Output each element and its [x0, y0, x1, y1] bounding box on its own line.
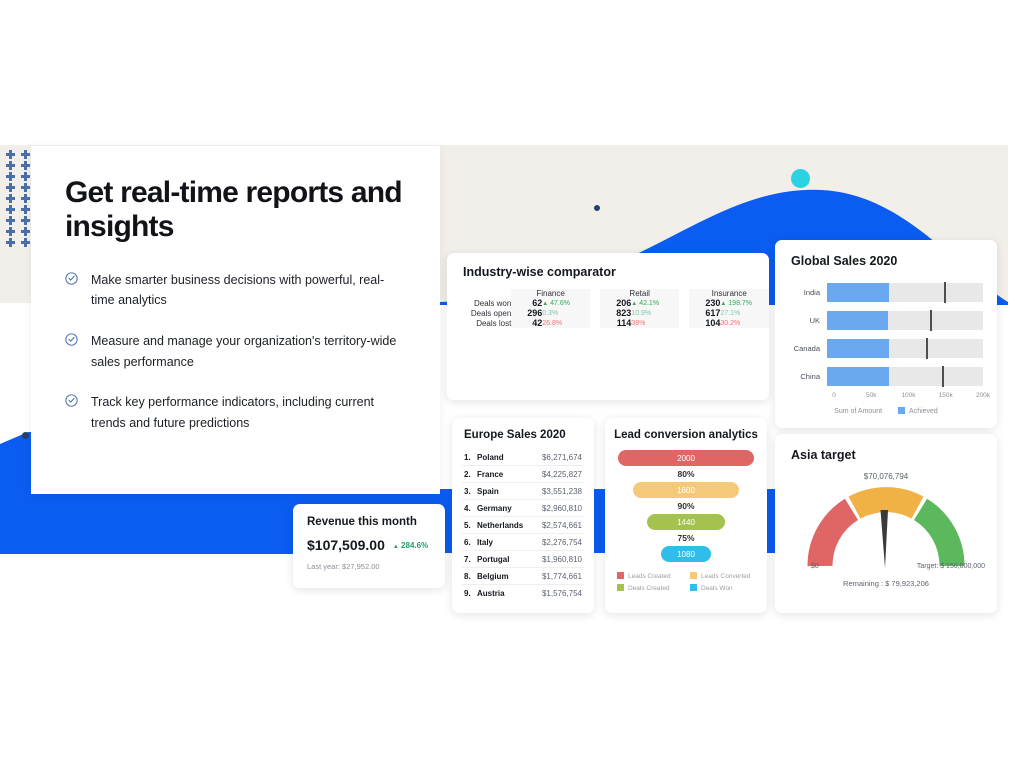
plus-icon — [6, 161, 15, 170]
plus-icon — [6, 194, 15, 203]
amount-label: $6,271,674 — [542, 453, 582, 462]
card-title: Industry-wise comparator — [463, 265, 769, 279]
page-title: Get real-time reports and insights — [65, 176, 406, 244]
axis-tick-label: 50k — [866, 392, 876, 399]
plus-icon — [6, 183, 15, 192]
plus-icon — [21, 227, 30, 236]
global-sales-bullet-chart: India UK Canada — [789, 280, 983, 415]
list-item[interactable]: 5.Netherlands$2,574,661 — [462, 517, 584, 534]
table-row: Deals open 296 0.3% 823 10.9% 617 27.1% — [447, 308, 769, 318]
revenue-delta: ▲ 284.6% — [393, 541, 428, 550]
rank-label: 1. — [464, 453, 477, 462]
legend-label: Leads Converted — [701, 573, 751, 580]
category-label: UK — [789, 316, 827, 325]
triangle-up-icon: ▲ — [542, 301, 548, 307]
amount-label: $2,960,810 — [542, 504, 582, 513]
cell-delta: ▲ 42.1% — [631, 298, 679, 308]
industry-wise-comparator-card: Industry-wise comparator Finance Retail … — [447, 253, 769, 400]
plus-icon — [21, 238, 30, 247]
plus-icon — [6, 150, 15, 159]
plus-icon — [6, 172, 15, 181]
funnel-conversion-rate: 75% — [605, 533, 767, 543]
country-label: Portugal — [477, 555, 509, 564]
plus-icon — [21, 172, 30, 181]
amount-label: $3,551,238 — [542, 487, 582, 496]
check-circle-icon — [65, 394, 78, 433]
funnel-stage-deals-created: 1440 — [647, 514, 725, 530]
list-item[interactable]: 9.Austria$1,576,754 — [462, 585, 584, 601]
check-circle-icon — [65, 272, 78, 311]
target-marker — [944, 282, 946, 303]
row-label: Deals won — [447, 298, 511, 308]
navy-accent-dot — [594, 205, 600, 211]
cell-delta: 38% — [631, 318, 679, 328]
category-label: Canada — [789, 344, 827, 353]
x-axis: 0 50k 100k 150k 200k — [834, 392, 983, 404]
cell-value: 42 — [511, 318, 542, 328]
cell-value: 296 — [511, 308, 542, 318]
legend-label: Deals Created — [628, 585, 670, 592]
card-title: Revenue this month — [307, 516, 445, 528]
rank-label: 3. — [464, 487, 477, 496]
hero-panel: Get real-time reports and insights Make … — [31, 146, 440, 494]
conversion-funnel-chart: 2000 80% 1600 90% 1440 75% 1080 — [605, 450, 767, 562]
legend-item-achieved: Achieved — [898, 407, 938, 415]
card-title: Lead conversion analytics — [605, 429, 767, 441]
navy-accent-dot-left — [22, 432, 29, 439]
feature-bullet-list: Make smarter business decisions with pow… — [65, 270, 406, 434]
country-name: 2.France — [464, 470, 503, 479]
funnel-conversion-rate: 80% — [605, 469, 767, 479]
amount-label: $1,576,754 — [542, 589, 582, 598]
gauge-graphic — [806, 484, 966, 572]
rank-label: 6. — [464, 538, 477, 547]
row-label: Deals lost — [447, 318, 511, 328]
asia-target-card: Asia target $70,076,794 $0 Target: $ 150… — [775, 434, 997, 613]
cyan-accent-dot — [791, 169, 810, 188]
legend-item-leads-converted: Leads Converted — [690, 572, 757, 580]
list-item[interactable]: 2.France$4,225,827 — [462, 466, 584, 483]
cell-delta: 0.3% — [542, 308, 590, 318]
check-circle-icon — [65, 333, 78, 372]
table-row: Deals lost 42 26.8% 114 38% 104 30.2% — [447, 318, 769, 328]
card-title: Global Sales 2020 — [791, 254, 997, 268]
legend-swatch — [690, 584, 697, 591]
legend-item-deals-won: Deals Won — [690, 584, 757, 592]
rank-label: 8. — [464, 572, 477, 581]
axis-tick-label: 0 — [832, 392, 836, 399]
country-label: Austria — [477, 589, 505, 598]
amount-label: $1,960,810 — [542, 555, 582, 564]
revenue-last-year: Last year: $27,952.00 — [307, 562, 445, 571]
revenue-delta-value: 284.6% — [401, 541, 428, 550]
country-label: Poland — [477, 453, 504, 462]
table-header-row: Finance Retail Insurance — [447, 289, 769, 298]
cell-value: 823 — [600, 308, 631, 318]
country-label: Netherlands — [477, 521, 523, 530]
cell-delta: 30.2% — [720, 318, 769, 328]
gauge-target-label: Target: $ 150,000,000 — [917, 563, 985, 570]
lead-conversion-analytics-card: Lead conversion analytics 2000 80% 1600 … — [605, 418, 767, 613]
revenue-value-row: $107,509.00 ▲ 284.6% — [307, 537, 445, 553]
legend-label: Leads Created — [628, 573, 671, 580]
asia-target-gauge: $70,076,794 $0 Target: $ 150,000,000 Rem… — [775, 464, 997, 572]
country-name: 3.Spain — [464, 487, 499, 496]
category-label: India — [789, 288, 827, 297]
cell-delta: 26.8% — [542, 318, 590, 328]
legend-swatch — [898, 407, 905, 414]
country-label: Belgium — [477, 572, 509, 581]
europe-sales-list: 1.Poland$6,271,674 2.France$4,225,827 3.… — [462, 449, 584, 601]
target-marker — [942, 366, 944, 387]
axis-tick-label: 100k — [901, 392, 915, 399]
country-label: Italy — [477, 538, 493, 547]
target-marker — [930, 310, 932, 331]
country-name: 9.Austria — [464, 589, 505, 598]
plus-icon — [21, 216, 30, 225]
list-item-label: Measure and manage your organization's t… — [91, 331, 406, 372]
amount-label: $2,574,661 — [542, 521, 582, 530]
legend-item-leads-created: Leads Created — [617, 572, 684, 580]
plus-icon — [21, 183, 30, 192]
chart-legend: Leads Created Leads Converted Deals Crea… — [617, 572, 757, 592]
list-item[interactable]: 3.Spain$3,551,238 — [462, 483, 584, 500]
cell-value: 114 — [600, 318, 631, 328]
chart-row: China — [789, 364, 983, 388]
target-marker — [926, 338, 928, 359]
table-row: Deals won 62 ▲ 47.6% 206 ▲ 42.1% 230 ▲ 1… — [447, 298, 769, 308]
country-name: 8.Belgium — [464, 572, 509, 581]
legend-label: Achieved — [909, 408, 938, 415]
plus-icon — [6, 216, 15, 225]
plus-icon — [21, 150, 30, 159]
legend-item-deals-created: Deals Created — [617, 584, 684, 592]
cell-value: 206 — [600, 298, 631, 308]
country-name: 7.Portugal — [464, 555, 509, 564]
cell-delta: ▲ 47.6% — [542, 298, 590, 308]
cell-delta-value: 47.6% — [550, 300, 570, 307]
rank-label: 7. — [464, 555, 477, 564]
gauge-remaining-label: Remaining : $ 79,923,206 — [775, 579, 997, 588]
list-item[interactable]: 6.Italy$2,276,754 — [462, 534, 584, 551]
row-label: Deals open — [447, 308, 511, 318]
plus-icon — [6, 227, 15, 236]
chart-row: India — [789, 280, 983, 304]
column-header-insurance: Insurance — [689, 289, 769, 298]
plus-icon — [6, 238, 15, 247]
rank-label: 5. — [464, 521, 477, 530]
legend-swatch — [617, 572, 624, 579]
chart-row: Canada — [789, 336, 983, 360]
plus-icon — [21, 194, 30, 203]
bar-fill — [827, 339, 889, 358]
rank-label: 2. — [464, 470, 477, 479]
triangle-up-icon: ▲ — [631, 301, 637, 307]
list-item-label: Track key performance indicators, includ… — [91, 392, 406, 433]
chart-row: UK — [789, 308, 983, 332]
column-header-finance: Finance — [511, 289, 590, 298]
bar-track — [827, 367, 983, 386]
legend-measure-label: Sum of Amount — [834, 408, 882, 415]
card-title: Europe Sales 2020 — [464, 429, 594, 441]
cell-delta: 10.9% — [631, 308, 679, 318]
cell-value: 617 — [689, 308, 720, 318]
gauge-value-label: $70,076,794 — [775, 472, 997, 481]
revenue-this-month-card: Revenue this month $107,509.00 ▲ 284.6% … — [293, 504, 445, 588]
list-item: Measure and manage your organization's t… — [65, 331, 406, 372]
country-name: 4.Germany — [464, 504, 512, 513]
triangle-up-icon: ▲ — [393, 544, 399, 550]
plus-icon — [21, 161, 30, 170]
cell-value: 62 — [511, 298, 542, 308]
bar-fill — [827, 283, 889, 302]
list-item[interactable]: 8.Belgium$1,774,661 — [462, 568, 584, 585]
rank-label: 9. — [464, 589, 477, 598]
bar-track — [827, 311, 983, 330]
cell-delta: 27.1% — [720, 308, 769, 318]
revenue-amount: $107,509.00 — [307, 537, 385, 553]
funnel-conversion-rate: 90% — [605, 501, 767, 511]
legend-swatch — [690, 572, 697, 579]
column-header-retail: Retail — [600, 289, 679, 298]
list-item[interactable]: 1.Poland$6,271,674 — [462, 449, 584, 466]
funnel-stage-leads-converted: 1600 — [633, 482, 740, 498]
list-item: Track key performance indicators, includ… — [65, 392, 406, 433]
category-label: China — [789, 372, 827, 381]
cell-delta-value: 198.7% — [728, 300, 752, 307]
chart-legend: Sum of Amount Achieved — [789, 407, 983, 415]
card-title: Asia target — [791, 448, 997, 462]
amount-label: $4,225,827 — [542, 470, 582, 479]
gauge-min-label: $0 — [811, 563, 819, 570]
list-item[interactable]: 4.Germany$2,960,810 — [462, 500, 584, 517]
europe-sales-card: Europe Sales 2020 1.Poland$6,271,674 2.F… — [452, 418, 594, 613]
cell-value: 104 — [689, 318, 720, 328]
country-label: Germany — [477, 504, 512, 513]
global-sales-card: Global Sales 2020 India UK Canada — [775, 240, 997, 428]
amount-label: $2,276,754 — [542, 538, 582, 547]
plus-icon — [21, 205, 30, 214]
country-label: France — [477, 470, 503, 479]
rank-label: 4. — [464, 504, 477, 513]
legend-label: Deals Won — [701, 585, 733, 592]
country-name: 5.Netherlands — [464, 521, 523, 530]
bar-track — [827, 283, 983, 302]
cell-value: 230 — [689, 298, 720, 308]
country-name: 1.Poland — [464, 453, 504, 462]
list-item[interactable]: 7.Portugal$1,960,810 — [462, 551, 584, 568]
funnel-stage-deals-won: 1080 — [661, 546, 711, 562]
triangle-up-icon: ▲ — [720, 301, 726, 307]
bar-track — [827, 339, 983, 358]
amount-label: $1,774,661 — [542, 572, 582, 581]
list-item-label: Make smarter business decisions with pow… — [91, 270, 406, 311]
country-label: Spain — [477, 487, 499, 496]
slide-canvas: Get real-time reports and insights Make … — [0, 0, 1024, 768]
funnel-stage-leads-created: 2000 — [618, 450, 754, 466]
cell-delta: ▲ 198.7% — [720, 298, 769, 308]
industry-comparator-table: Finance Retail Insurance Deals won 62 ▲ … — [447, 289, 769, 328]
plus-icon — [6, 205, 15, 214]
legend-swatch — [617, 584, 624, 591]
cell-delta-value: 42.1% — [639, 300, 659, 307]
list-item: Make smarter business decisions with pow… — [65, 270, 406, 311]
axis-tick-label: 200k — [976, 392, 990, 399]
bar-fill — [827, 311, 888, 330]
axis-tick-label: 150k — [939, 392, 953, 399]
bar-fill — [827, 367, 889, 386]
country-name: 6.Italy — [464, 538, 493, 547]
